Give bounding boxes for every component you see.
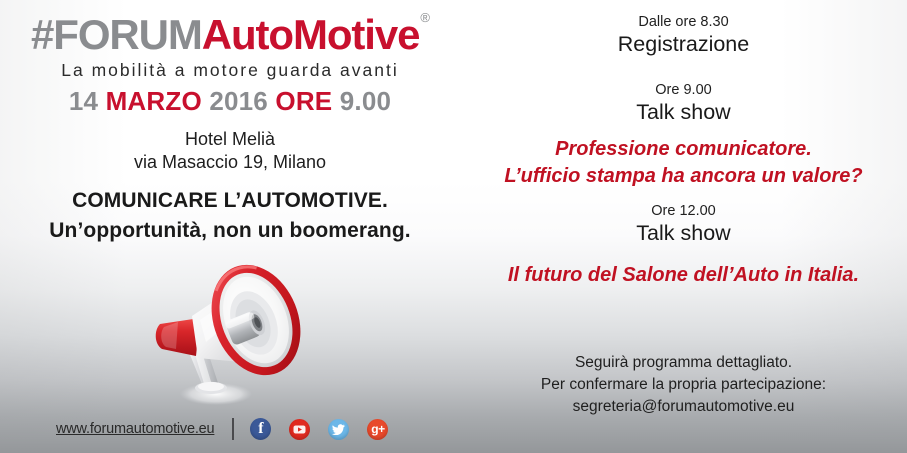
brand-automotive: AutoMotive [202,11,420,58]
event-date-month: MARZO [106,86,202,116]
talk1-topic-line-1: Professione comunicatore. [460,136,907,163]
website-link[interactable]: www.forumautomotive.eu [56,421,214,437]
megaphone-illustration [140,248,320,408]
talk2-topic-line-1: Il futuro del Salone dell’Auto in Italia… [460,262,907,289]
registered-trademark-icon: ® [420,10,430,25]
footer-bar: www.forumautomotive.eu f [56,418,388,440]
twitter-icon[interactable] [328,419,349,440]
facebook-glyph: f [258,421,263,437]
registration-title: Registrazione [460,31,907,58]
talk1-title: Talk show [460,99,907,126]
youtube-glyph [293,425,306,434]
event-date-year: 2016 [202,86,276,116]
talk2-time: Ore 12.00 [460,203,907,220]
footer-divider [232,418,234,440]
event-date-day: 14 [69,86,106,116]
schedule-talk-2: Ore 12.00 Talk show [460,203,907,247]
schedule-registration: Dalle ore 8.30 Registrazione [460,14,907,58]
registration-note: Seguirà programma dettagliato. Per confe… [460,352,907,418]
brand-hash: # [31,11,53,58]
talk1-topic-line-2: L’ufficio stampa ha ancora un valore? [460,163,907,190]
right-column: Dalle ore 8.30 Registrazione Ore 9.00 Ta… [460,0,907,453]
venue-name: Hotel Melià [0,128,460,151]
talk2-topic: Il futuro del Salone dell’Auto in Italia… [460,262,907,289]
slogan-line-2: Un’opportunità, non un boomerang. [0,216,460,246]
social-links: f g+ [250,418,388,440]
facebook-icon[interactable]: f [250,418,271,440]
talk2-title: Talk show [460,220,907,247]
note-line-1: Seguirà programma dettagliato. [460,352,907,374]
venue-address: via Masaccio 19, Milano [0,151,460,174]
brand-tagline: La mobilità a motore guarda avanti [0,60,460,81]
schedule-talk-1: Ore 9.00 Talk show [460,82,907,126]
talk1-topic: Professione comunicatore. L’ufficio stam… [460,136,907,190]
note-email[interactable]: segreteria@forumautomotive.eu [460,396,907,418]
twitter-glyph [332,424,345,435]
registration-time: Dalle ore 8.30 [460,14,907,31]
google-plus-glyph: g+ [371,423,384,435]
poster-canvas: #FORUMAutoMotive® La mobilità a motore g… [0,0,907,453]
event-slogan: COMUNICARE L’AUTOMOTIVE. Un’opportunità,… [0,186,460,246]
event-ore-label: ORE [275,86,332,116]
youtube-icon[interactable] [289,419,310,440]
left-column: #FORUMAutoMotive® La mobilità a motore g… [0,0,460,453]
brand-logo: #FORUMAutoMotive® [0,14,460,56]
brand-forum: FORUM [53,11,201,58]
event-date-time: 9.00 [332,86,391,116]
slogan-line-1: COMUNICARE L’AUTOMOTIVE. [0,186,460,216]
event-dateline: 14 MARZO 2016 ORE 9.00 [0,86,460,117]
note-line-2: Per confermare la propria partecipazione… [460,374,907,396]
event-venue: Hotel Melià via Masaccio 19, Milano [0,128,460,174]
google-plus-icon[interactable]: g+ [367,419,388,440]
talk1-time: Ore 9.00 [460,82,907,99]
